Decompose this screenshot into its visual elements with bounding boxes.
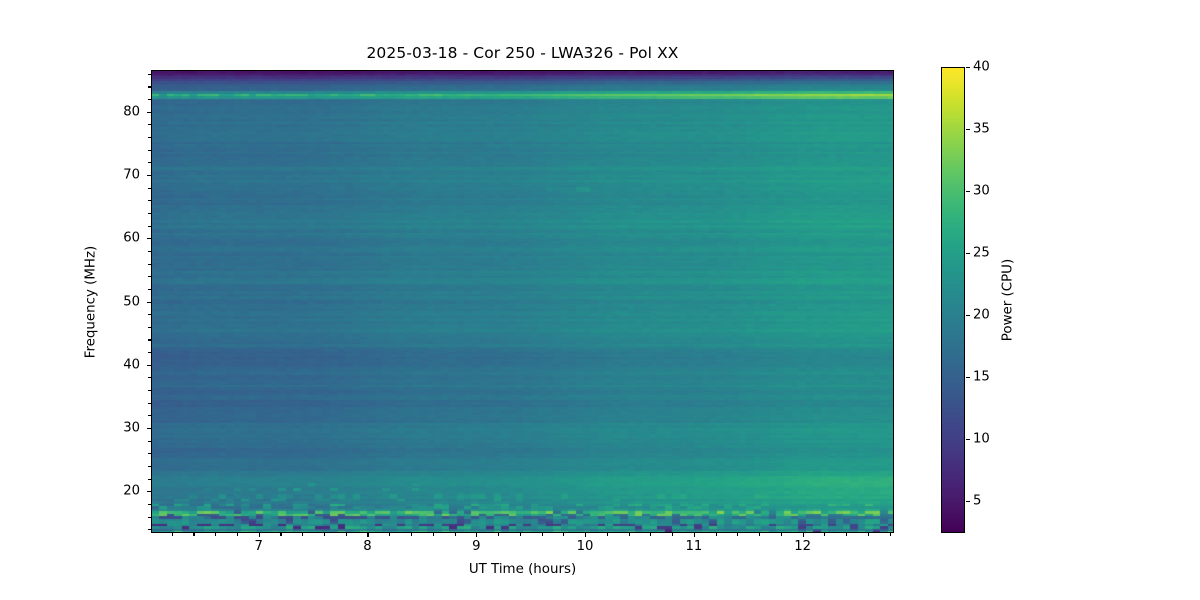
x-minor-tick	[542, 533, 543, 536]
y-minor-tick	[148, 390, 151, 391]
y-minor-tick	[148, 137, 151, 138]
x-minor-tick	[302, 533, 303, 536]
x-minor-tick	[650, 533, 651, 536]
colorbar-tick	[966, 253, 970, 254]
y-minor-tick	[148, 162, 151, 163]
y-minor-tick	[148, 200, 151, 201]
y-major-tick	[147, 302, 151, 303]
x-tick-label: 7	[254, 539, 262, 554]
y-major-tick	[147, 238, 151, 239]
x-minor-tick	[411, 533, 412, 536]
x-minor-tick	[846, 533, 847, 536]
x-axis-label: UT Time (hours)	[151, 562, 894, 577]
y-major-tick	[147, 112, 151, 113]
x-major-tick	[694, 533, 695, 537]
colorbar-tick-label: 10	[973, 431, 990, 446]
y-minor-tick	[148, 150, 151, 151]
y-minor-tick	[148, 529, 151, 530]
y-minor-tick	[148, 339, 151, 340]
colorbar-tick-label: 20	[973, 307, 990, 322]
x-tick-label: 10	[577, 539, 594, 554]
page-title: 2025-03-18 - Cor 250 - LWA326 - Pol XX	[0, 44, 1045, 62]
y-tick-label: 50	[0, 294, 140, 309]
colorbar[interactable]	[941, 67, 965, 533]
y-minor-tick	[148, 314, 151, 315]
x-major-tick	[259, 533, 260, 537]
x-minor-tick	[455, 533, 456, 536]
y-minor-tick	[148, 188, 151, 189]
x-minor-tick	[607, 533, 608, 536]
x-minor-tick	[824, 533, 825, 536]
x-tick-label: 12	[794, 539, 811, 554]
y-minor-tick	[148, 74, 151, 75]
x-minor-tick	[215, 533, 216, 536]
y-minor-tick	[148, 466, 151, 467]
x-minor-tick	[280, 533, 281, 536]
x-minor-tick	[868, 533, 869, 536]
y-major-tick	[147, 428, 151, 429]
y-tick-label: 30	[0, 421, 140, 436]
colorbar-label: Power (CPU)	[1001, 259, 1016, 341]
x-minor-tick	[193, 533, 194, 536]
x-minor-tick	[520, 533, 521, 536]
x-minor-tick	[172, 533, 173, 536]
y-minor-tick	[148, 86, 151, 87]
x-minor-tick	[629, 533, 630, 536]
spectrogram-heatmap	[152, 71, 894, 533]
y-minor-tick	[148, 453, 151, 454]
x-major-tick	[803, 533, 804, 537]
x-minor-tick	[237, 533, 238, 536]
colorbar-tick	[966, 191, 970, 192]
x-minor-tick	[346, 533, 347, 536]
y-minor-tick	[148, 327, 151, 328]
y-minor-tick	[148, 441, 151, 442]
x-tick-label: 9	[472, 539, 480, 554]
colorbar-tick	[966, 67, 970, 68]
colorbar-tick-label: 5	[973, 493, 981, 508]
colorbar-tick-label: 40	[973, 60, 990, 75]
x-minor-tick	[737, 533, 738, 536]
x-minor-tick	[389, 533, 390, 536]
x-minor-tick	[563, 533, 564, 536]
y-tick-label: 20	[0, 484, 140, 499]
dynamic-spectrum-axes[interactable]	[151, 70, 894, 533]
y-tick-label: 80	[0, 104, 140, 119]
x-tick-label: 8	[363, 539, 371, 554]
x-minor-tick	[759, 533, 760, 536]
colorbar-gradient	[942, 68, 965, 533]
x-major-tick	[476, 533, 477, 537]
colorbar-tick	[966, 501, 970, 502]
y-axis-label: Frequency (MHz)	[84, 245, 99, 358]
x-minor-tick	[324, 533, 325, 536]
colorbar-tick	[966, 377, 970, 378]
y-minor-tick	[148, 213, 151, 214]
colorbar-tick-label: 30	[973, 183, 990, 198]
y-major-tick	[147, 365, 151, 366]
y-minor-tick	[148, 517, 151, 518]
colorbar-tick	[966, 315, 970, 316]
matplotlib-figure: 2025-03-18 - Cor 250 - LWA326 - Pol XX 7…	[0, 0, 1200, 600]
y-tick-label: 40	[0, 357, 140, 372]
y-minor-tick	[148, 352, 151, 353]
y-minor-tick	[148, 226, 151, 227]
y-minor-tick	[148, 264, 151, 265]
x-minor-tick	[672, 533, 673, 536]
y-minor-tick	[148, 403, 151, 404]
x-minor-tick	[716, 533, 717, 536]
y-minor-tick	[148, 276, 151, 277]
x-minor-tick	[890, 533, 891, 536]
x-major-tick	[367, 533, 368, 537]
x-major-tick	[585, 533, 586, 537]
y-minor-tick	[148, 99, 151, 100]
x-minor-tick	[781, 533, 782, 536]
y-minor-tick	[148, 415, 151, 416]
x-minor-tick	[498, 533, 499, 536]
y-tick-label: 70	[0, 167, 140, 182]
x-minor-tick	[433, 533, 434, 536]
y-major-tick	[147, 491, 151, 492]
y-major-tick	[147, 175, 151, 176]
colorbar-tick-label: 15	[973, 369, 990, 384]
y-minor-tick	[148, 124, 151, 125]
y-tick-label: 60	[0, 231, 140, 246]
y-minor-tick	[148, 289, 151, 290]
colorbar-tick	[966, 129, 970, 130]
colorbar-tick	[966, 439, 970, 440]
y-minor-tick	[148, 251, 151, 252]
colorbar-tick-label: 35	[973, 121, 990, 136]
y-minor-tick	[148, 479, 151, 480]
y-minor-tick	[148, 377, 151, 378]
colorbar-tick-label: 25	[973, 245, 990, 260]
y-minor-tick	[148, 504, 151, 505]
x-tick-label: 11	[685, 539, 702, 554]
